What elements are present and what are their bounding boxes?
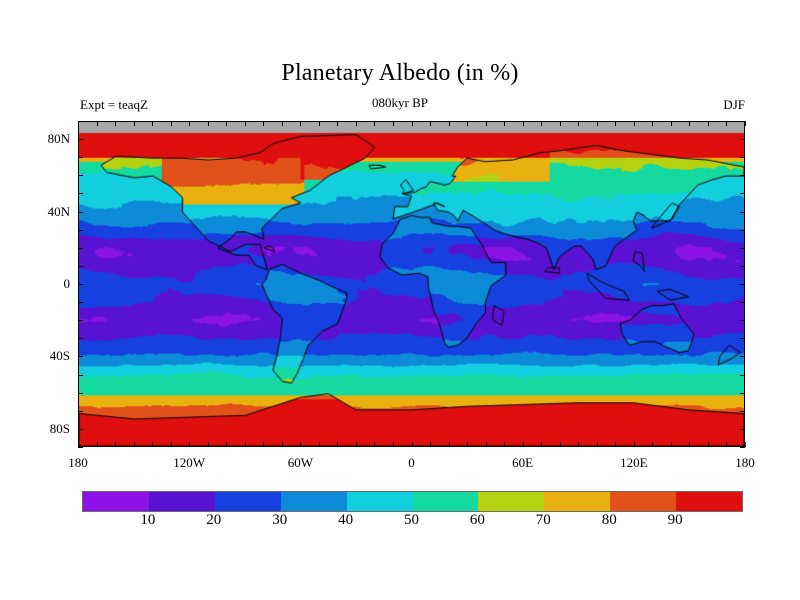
x-minor-tick	[245, 121, 246, 126]
x-minor-tick	[412, 442, 413, 447]
y-tick-label-wrap: 40S	[0, 356, 70, 372]
colorbar-tick-60: 60	[470, 512, 485, 529]
x-minor-tick	[560, 442, 561, 447]
x-minor-tick	[708, 442, 709, 447]
x-tick-label-60E: 60E	[512, 455, 533, 471]
x-minor-tick	[189, 442, 190, 447]
x-minor-tick	[393, 442, 394, 447]
x-tick-label-120E: 120E	[620, 455, 647, 471]
y-minor-tick	[78, 284, 83, 285]
y-minor-tick	[78, 375, 83, 376]
x-minor-tick	[449, 442, 450, 447]
x-minor-tick	[374, 121, 375, 126]
x-minor-tick	[689, 121, 690, 126]
colorbar-labels: 102030405060708090	[82, 512, 743, 534]
x-minor-tick	[300, 121, 301, 126]
colorbar-band-3	[281, 492, 347, 511]
x-minor-tick	[449, 121, 450, 126]
y-minor-tick	[740, 139, 745, 140]
x-minor-tick	[726, 442, 727, 447]
x-minor-tick	[430, 442, 431, 447]
y-minor-tick	[78, 230, 83, 231]
x-minor-tick	[634, 121, 635, 126]
albedo-map-canvas	[79, 122, 744, 446]
y-minor-tick	[740, 356, 745, 357]
x-tick-label-120W: 120W	[173, 455, 205, 471]
y-minor-tick	[78, 175, 83, 176]
x-minor-tick	[486, 121, 487, 126]
colorbar-band-1	[149, 492, 215, 511]
x-minor-tick	[134, 121, 135, 126]
y-minor-tick	[740, 284, 745, 285]
x-minor-tick	[467, 442, 468, 447]
x-minor-tick	[171, 442, 172, 447]
x-minor-tick	[467, 121, 468, 126]
x-minor-tick	[356, 442, 357, 447]
x-minor-tick	[115, 121, 116, 126]
y-minor-tick	[78, 356, 83, 357]
colorbar-band-4	[347, 492, 413, 511]
x-minor-tick	[263, 121, 264, 126]
x-minor-tick	[412, 121, 413, 126]
y-minor-tick	[740, 447, 745, 448]
colorbar-tick-20: 20	[206, 512, 221, 529]
x-minor-tick	[634, 442, 635, 447]
x-minor-tick	[97, 442, 98, 447]
y-minor-tick	[78, 447, 83, 448]
y-minor-tick	[78, 411, 83, 412]
colorbar-tick-70: 70	[536, 512, 551, 529]
x-minor-tick	[337, 442, 338, 447]
x-minor-tick	[319, 442, 320, 447]
x-minor-tick	[745, 121, 746, 126]
y-minor-tick	[78, 157, 83, 158]
y-tick-label-0: 0	[0, 276, 70, 292]
figure: Planetary Albedo (in %) 080kyr BP Expt =…	[0, 0, 800, 600]
y-tick-label-wrap: 0	[0, 284, 70, 300]
x-minor-tick	[300, 442, 301, 447]
x-minor-tick	[263, 442, 264, 447]
experiment-label: Expt = teaqZ	[80, 97, 148, 113]
x-minor-tick	[726, 121, 727, 126]
x-minor-tick	[671, 121, 672, 126]
colorbar-tick-90: 90	[668, 512, 683, 529]
colorbar-tick-30: 30	[272, 512, 287, 529]
y-minor-tick	[78, 248, 83, 249]
x-minor-tick	[356, 121, 357, 126]
y-minor-tick	[740, 393, 745, 394]
x-minor-tick	[319, 121, 320, 126]
y-minor-tick	[740, 320, 745, 321]
x-minor-tick	[282, 121, 283, 126]
colorbar-band-8	[610, 492, 676, 511]
colorbar-band-5	[413, 492, 479, 511]
x-minor-tick	[208, 442, 209, 447]
albedo-map	[78, 121, 745, 447]
y-minor-tick	[78, 121, 83, 122]
x-minor-tick	[578, 121, 579, 126]
x-minor-tick	[652, 121, 653, 126]
y-minor-tick	[740, 212, 745, 213]
x-minor-tick	[393, 121, 394, 126]
x-minor-tick	[745, 442, 746, 447]
x-minor-tick	[152, 442, 153, 447]
colorbar-band-9	[676, 492, 742, 511]
y-tick-label-wrap: 80S	[0, 429, 70, 445]
y-minor-tick	[740, 248, 745, 249]
y-minor-tick	[740, 302, 745, 303]
x-minor-tick	[97, 121, 98, 126]
y-tick-label-80N: 80N	[0, 131, 70, 147]
x-minor-tick	[226, 121, 227, 126]
x-tick-label-180: 180	[735, 455, 755, 471]
x-minor-tick	[615, 121, 616, 126]
x-minor-tick	[504, 442, 505, 447]
y-minor-tick	[78, 212, 83, 213]
x-minor-tick	[671, 442, 672, 447]
x-minor-tick	[245, 442, 246, 447]
y-minor-tick	[740, 411, 745, 412]
x-tick-label-180: 180	[68, 455, 88, 471]
y-minor-tick	[740, 230, 745, 231]
y-minor-tick	[78, 266, 83, 267]
colorbar	[82, 491, 743, 512]
x-minor-tick	[152, 121, 153, 126]
x-minor-tick	[597, 121, 598, 126]
page-title: Planetary Albedo (in %)	[0, 60, 800, 87]
y-minor-tick	[740, 157, 745, 158]
x-minor-tick	[430, 121, 431, 126]
y-minor-tick	[78, 302, 83, 303]
x-tick-label-60W: 60W	[288, 455, 313, 471]
y-minor-tick	[78, 139, 83, 140]
y-tick-label-wrap: 40N	[0, 212, 70, 228]
y-minor-tick	[78, 393, 83, 394]
x-minor-tick	[541, 121, 542, 126]
x-minor-tick	[504, 121, 505, 126]
y-minor-tick	[740, 375, 745, 376]
y-minor-tick	[740, 121, 745, 122]
colorbar-tick-10: 10	[140, 512, 155, 529]
x-minor-tick	[189, 121, 190, 126]
x-minor-tick	[171, 121, 172, 126]
y-minor-tick	[78, 320, 83, 321]
y-minor-tick	[78, 338, 83, 339]
y-tick-label-40S: 40S	[0, 348, 70, 364]
y-minor-tick	[740, 338, 745, 339]
y-minor-tick	[740, 175, 745, 176]
x-minor-tick	[208, 121, 209, 126]
colorbar-tick-80: 80	[602, 512, 617, 529]
colorbar-band-6	[478, 492, 544, 511]
x-minor-tick	[337, 121, 338, 126]
x-minor-tick	[523, 121, 524, 126]
x-minor-tick	[652, 442, 653, 447]
x-minor-tick	[134, 442, 135, 447]
x-minor-tick	[523, 442, 524, 447]
x-minor-tick	[541, 442, 542, 447]
x-minor-tick	[708, 121, 709, 126]
season-label: DJF	[723, 97, 745, 113]
x-tick-label-0: 0	[408, 455, 415, 471]
y-minor-tick	[740, 429, 745, 430]
y-tick-label-40N: 40N	[0, 204, 70, 220]
x-minor-tick	[282, 442, 283, 447]
x-minor-tick	[374, 442, 375, 447]
colorbar-tick-40: 40	[338, 512, 353, 529]
y-tick-label-80S: 80S	[0, 421, 70, 437]
x-minor-tick	[115, 442, 116, 447]
colorbar-band-0	[83, 492, 149, 511]
y-minor-tick	[78, 193, 83, 194]
y-minor-tick	[740, 193, 745, 194]
x-minor-tick	[615, 442, 616, 447]
colorbar-band-2	[215, 492, 281, 511]
y-minor-tick	[740, 266, 745, 267]
x-minor-tick	[226, 442, 227, 447]
x-minor-tick	[578, 442, 579, 447]
y-tick-label-wrap: 80N	[0, 139, 70, 155]
colorbar-tick-50: 50	[404, 512, 419, 529]
x-minor-tick	[560, 121, 561, 126]
x-minor-tick	[486, 442, 487, 447]
y-minor-tick	[78, 429, 83, 430]
x-minor-tick	[689, 442, 690, 447]
colorbar-band-7	[544, 492, 610, 511]
x-minor-tick	[597, 442, 598, 447]
